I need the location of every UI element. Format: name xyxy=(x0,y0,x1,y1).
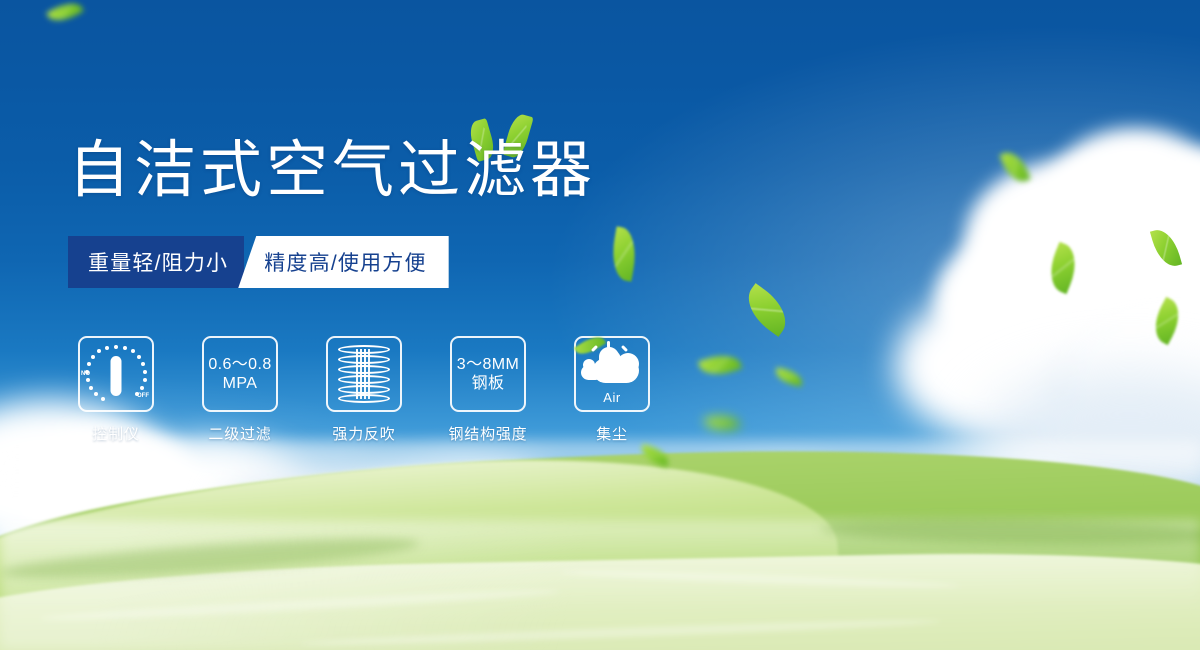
feature-label-blowback: 强力反吹 xyxy=(326,423,402,444)
feature-box-filtration: 0.6～0.8 MPA xyxy=(202,336,278,412)
feature-box-controller: NO OFF xyxy=(78,336,154,412)
gauge-on-label: NO xyxy=(81,371,90,377)
cloud-air-icon: Air xyxy=(581,345,643,403)
feature-label-dust: 集尘 xyxy=(574,423,650,444)
feature-box-blowback xyxy=(326,336,402,412)
feature-item-steel[interactable]: 3～8MM 钢板 钢结构强度 xyxy=(450,336,526,444)
page-title: 自洁式空气过滤器 xyxy=(68,140,596,202)
feature-label-steel: 钢结构强度 xyxy=(436,423,540,444)
feature-list: NO OFF 控制仪 0.6～0.8 MPA 二级过滤 xyxy=(78,336,650,444)
steel-material: 钢板 xyxy=(457,374,519,393)
steel-thickness: 3～8MM xyxy=(457,355,519,374)
feature-item-controller[interactable]: NO OFF 控制仪 xyxy=(78,336,154,444)
feature-item-dust[interactable]: Air 集尘 xyxy=(574,336,650,444)
subtitle-segment-left: 重量轻/阻力小 xyxy=(68,236,244,288)
coil-blowback-icon xyxy=(338,345,390,403)
gauge-off-label: OFF xyxy=(137,393,149,399)
air-label: Air xyxy=(581,390,643,405)
promo-banner: 自洁式空气过滤器 重量轻/阻力小 精度高/使用方便 xyxy=(0,0,1200,650)
subtitle-segment-right: 精度高/使用方便 xyxy=(238,236,448,288)
pressure-unit: MPA xyxy=(208,374,271,393)
gauge-needle xyxy=(111,356,122,396)
feature-item-filtration[interactable]: 0.6～0.8 MPA 二级过滤 xyxy=(202,336,278,444)
feature-box-steel: 3～8MM 钢板 xyxy=(450,336,526,412)
feature-box-dust: Air xyxy=(574,336,650,412)
gauge-icon: NO OFF xyxy=(85,343,147,405)
subtitle-bar: 重量轻/阻力小 精度高/使用方便 xyxy=(68,236,449,288)
feature-label-controller: 控制仪 xyxy=(78,423,154,444)
pressure-value: 0.6～0.8 xyxy=(208,355,271,374)
feature-label-filtration: 二级过滤 xyxy=(202,423,278,444)
feature-item-blowback[interactable]: 强力反吹 xyxy=(326,336,402,444)
pressure-text-icon: 0.6～0.8 MPA xyxy=(208,355,271,393)
steel-plate-text-icon: 3～8MM 钢板 xyxy=(457,355,519,393)
